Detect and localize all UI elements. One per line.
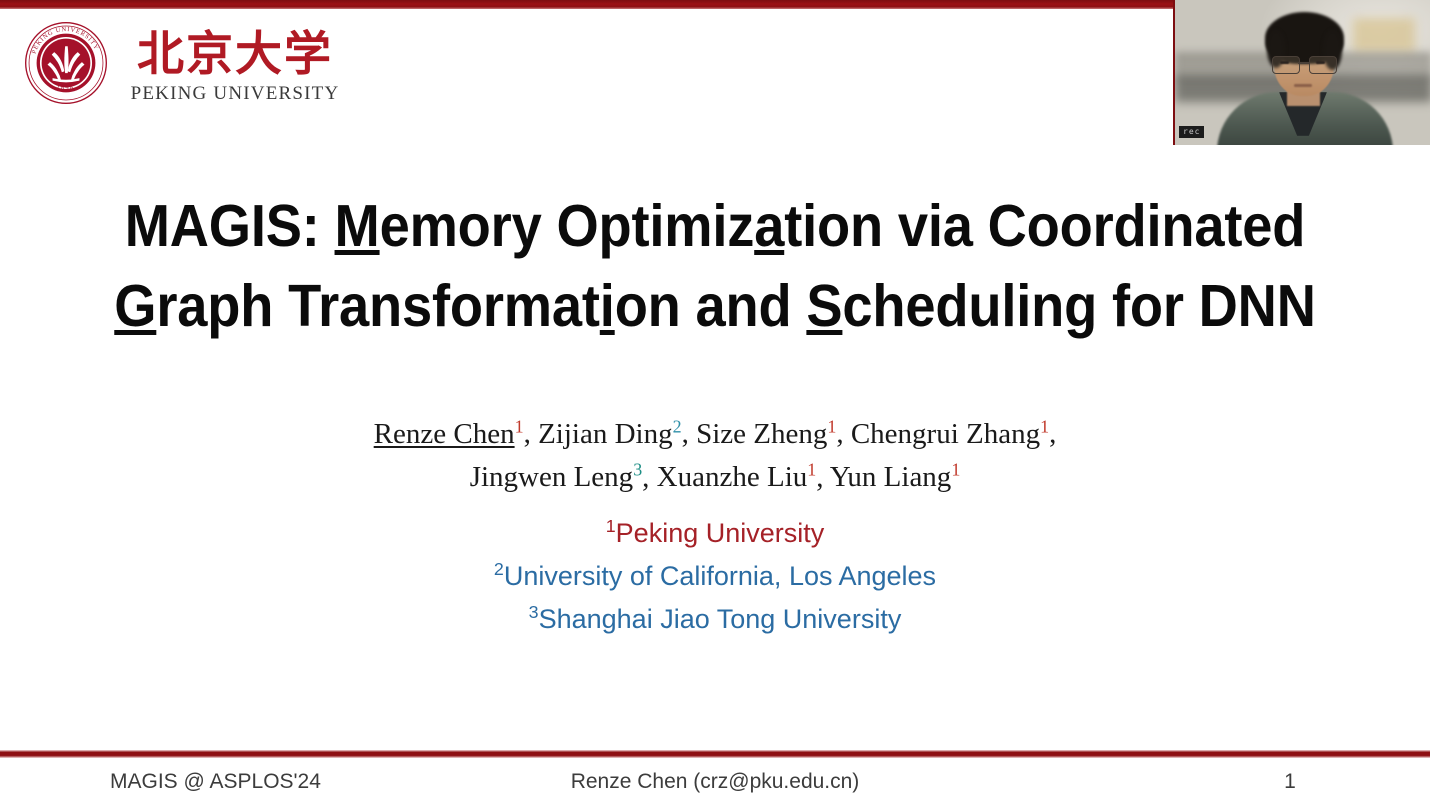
glasses-bridge: [1298, 62, 1309, 64]
author-affiliation-marker: 1: [827, 416, 836, 436]
title-text-segment: MAGIS:: [125, 193, 335, 259]
title-text-segment: on and: [615, 273, 807, 339]
slide-title: MAGIS: Memory Optimization via Coordinat…: [94, 186, 1336, 346]
pku-logo: PEKING UNIVERSITY 1898 北京大学 PEKING UNIVE…: [24, 17, 354, 112]
affiliation-line: 3Shanghai Jiao Tong University: [215, 594, 1215, 637]
title-acronym-letter: G: [114, 273, 156, 339]
presenter-video-overlay[interactable]: rec: [1173, 0, 1430, 145]
title-line-2: Graph Transformation and Scheduling for …: [94, 266, 1336, 346]
slide-footer: MAGIS @ ASPLOS'24 Renze Chen (crz@pku.ed…: [0, 762, 1430, 804]
affiliation-line: 2University of California, Los Angeles: [215, 551, 1215, 594]
author-name: Chengrui Zhang1: [851, 418, 1049, 450]
presenting-author-name: Renze Chen: [374, 418, 515, 450]
title-text-segment: cheduling for DNN: [842, 273, 1315, 339]
footer-accent-bar: [0, 750, 1430, 758]
title-acronym-letter: M: [335, 193, 380, 259]
affiliation-name: Peking University: [616, 518, 825, 548]
author-name: Renze Chen1: [374, 418, 524, 450]
author-name-text: Zijian Ding: [538, 418, 673, 450]
author-name: Jingwen Leng3: [470, 461, 642, 493]
author-name: Zijian Ding2: [538, 418, 682, 450]
author-name-text: Size Zheng: [696, 418, 827, 450]
pku-seal-icon: PEKING UNIVERSITY 1898: [24, 21, 108, 105]
author-affiliation-marker: 1: [1040, 416, 1049, 436]
presenter-eye-left: [1280, 61, 1289, 64]
presenter-glasses: [1271, 56, 1337, 73]
author-name: Xuanzhe Liu1: [657, 461, 817, 493]
author-name: Yun Liang1: [830, 461, 961, 493]
footer-venue: MAGIS @ ASPLOS'24: [110, 770, 321, 794]
title-acronym-letter: a: [754, 193, 784, 259]
presenter-mouth: [1294, 84, 1312, 87]
affiliation-list: 1Peking University2University of Califor…: [215, 508, 1215, 637]
video-background-object: [1353, 18, 1415, 52]
author-name: Size Zheng1: [696, 418, 836, 450]
affiliation-marker: 1: [606, 516, 616, 536]
affiliation-line: 1Peking University: [215, 508, 1215, 551]
author-line-1: Renze Chen1, Zijian Ding2, Size Zheng1, …: [215, 408, 1215, 452]
author-affiliation-marker: 1: [807, 460, 816, 480]
footer-page-number: 1: [1230, 770, 1350, 794]
presenter-eye-right: [1316, 61, 1325, 64]
author-affiliation-marker: 1: [515, 416, 524, 436]
author-affiliation-marker: 3: [633, 460, 642, 480]
title-acronym-letter: i: [600, 273, 615, 339]
affiliation-name: University of California, Los Angeles: [504, 561, 936, 591]
pku-chinese-wordmark: 北京大学: [120, 23, 350, 83]
author-affiliation-marker: 2: [673, 416, 682, 436]
glasses-lens-left: [1272, 56, 1300, 74]
author-name-text: Xuanzhe Liu: [657, 461, 808, 493]
title-text-segment: emory Optimiz: [380, 193, 755, 259]
affiliation-marker: 3: [529, 602, 539, 622]
svg-text:北京大学: 北京大学: [137, 27, 333, 82]
author-affiliation-marker: 1: [951, 460, 960, 480]
glasses-lens-right: [1309, 56, 1337, 74]
title-text-segment: tion via Coordinated: [784, 193, 1305, 259]
author-name-text: Yun Liang: [830, 461, 952, 493]
author-name-text: Jingwen Leng: [470, 461, 634, 493]
author-line-2: Jingwen Leng3, Xuanzhe Liu1, Yun Liang1: [215, 452, 1215, 496]
video-recording-badge: rec: [1179, 126, 1204, 138]
title-line-1: MAGIS: Memory Optimization via Coordinat…: [94, 186, 1336, 266]
pku-english-wordmark: PEKING UNIVERSITY: [120, 83, 350, 105]
author-name-text: Chengrui Zhang: [851, 418, 1040, 450]
affiliation-marker: 2: [494, 559, 504, 579]
footer-presenter: Renze Chen (crz@pku.edu.cn): [415, 770, 1015, 794]
title-text-segment: raph Transformat: [156, 273, 599, 339]
author-list: Renze Chen1, Zijian Ding2, Size Zheng1, …: [215, 408, 1215, 495]
affiliation-name: Shanghai Jiao Tong University: [539, 604, 902, 634]
title-acronym-letter: S: [806, 273, 842, 339]
presentation-slide: PEKING UNIVERSITY 1898 北京大学 PEKING UNIVE…: [0, 0, 1430, 804]
